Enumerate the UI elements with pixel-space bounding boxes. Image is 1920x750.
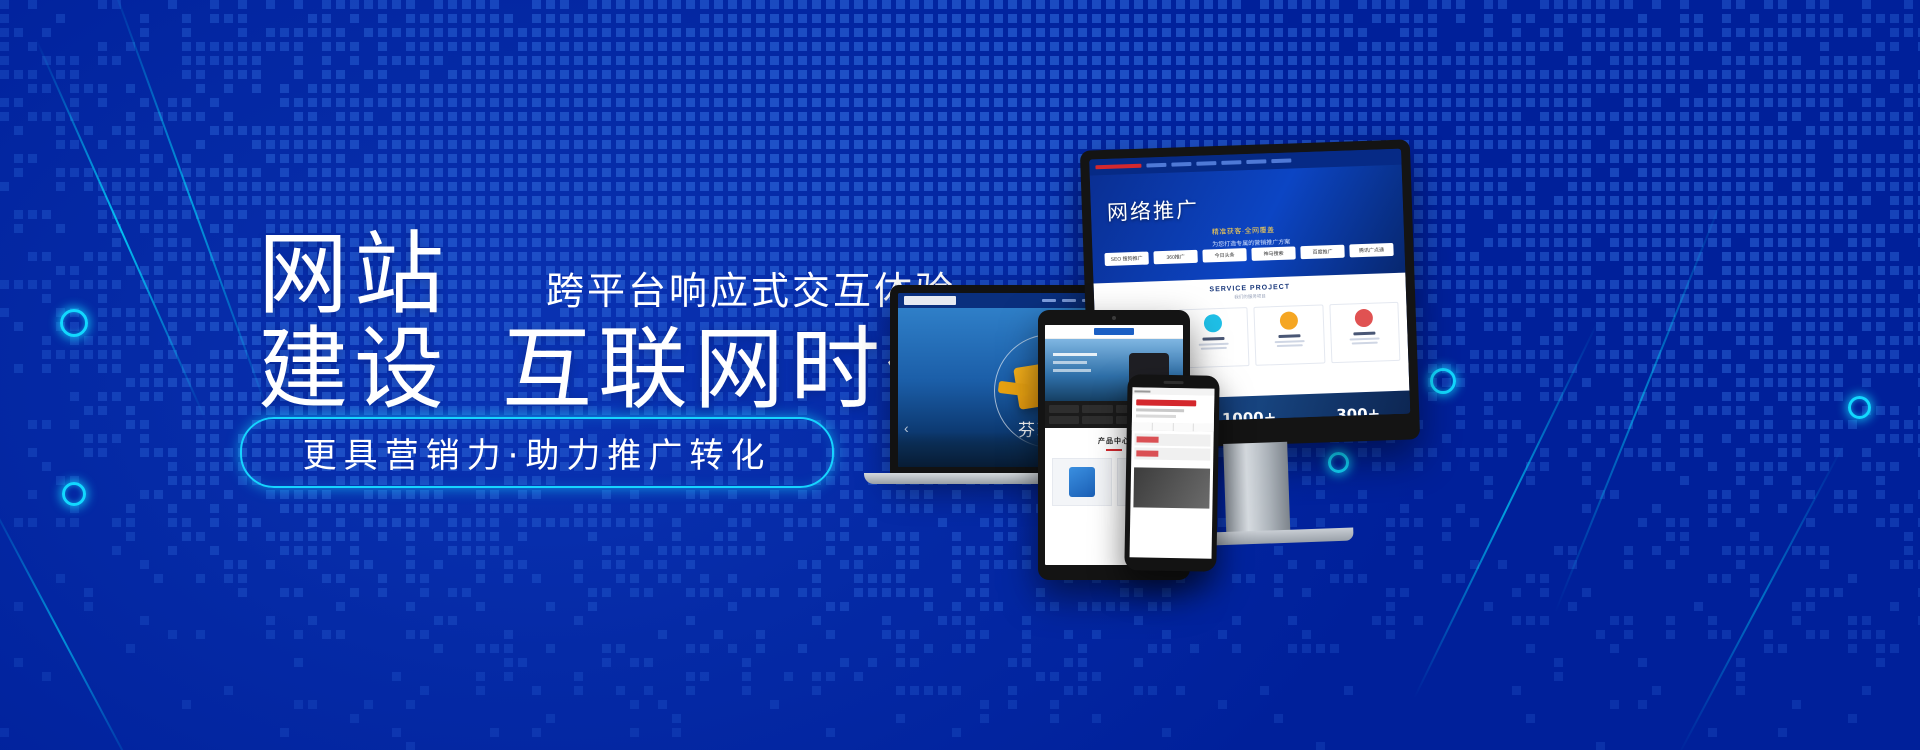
service-card-icon [1204,314,1223,333]
phone-article-image [1133,467,1210,508]
monitor-stand [1223,442,1290,536]
partner-logo: SEO 搜狗推广 [1104,252,1148,267]
service-card-icon [1355,309,1374,328]
phone-speaker-icon [1164,381,1184,384]
list-item[interactable] [1134,433,1210,446]
stat-item: 1000+服务客户数量 [1222,408,1277,424]
partner-logo: 360推广 [1153,250,1197,265]
device-mockup-cluster: 芬瑞机械 ‹ 网络推广 精 [880,110,1920,630]
laptop-site-logo [904,296,956,305]
headline-row-two: 建设 互联网时代 [258,325,982,415]
monitor-hero-subtitle: 精准获客·全网覆盖 [1212,225,1275,237]
tablet-site-logo [1094,328,1134,335]
phone-banner [1132,394,1214,423]
smartphone-mockup [1124,374,1219,572]
partner-logo: 今日头条 [1202,248,1246,263]
phone-list [1131,430,1214,465]
phone-tab-row[interactable] [1132,422,1214,431]
tablet-camera-icon [1112,316,1116,320]
tablet-product-card[interactable] [1052,458,1112,506]
monitor-hero-title: 网络推广 [1106,194,1199,227]
service-card[interactable] [1329,302,1401,363]
list-item[interactable] [1134,447,1210,460]
stat-item: 300+成功案例 [1336,405,1381,425]
stat-value: 1000+ [1222,408,1277,424]
carousel-prev-icon[interactable]: ‹ [904,420,909,436]
monitor-hero: 网络推广 精准获客·全网覆盖 为您打造专属的营销推广方案 SEO 搜狗推广360… [1090,165,1406,284]
slogan-text: 更具营销力·助力推广转化 [303,428,772,477]
website-construction-banner: 网站 跨平台响应式交互体验 建设 互联网时代 更具营销力·助力推广转化 [0,0,1920,750]
headline-primary-line1: 网站 [258,230,450,320]
headline-primary-line2: 建设 [258,325,450,415]
service-card-icon [1279,311,1298,330]
partner-logo: 腾讯广点通 [1349,243,1393,258]
partner-logo: 神马搜索 [1251,246,1295,261]
slogan-pill: 更具营销力·助力推广转化 [240,417,834,488]
headline-row-one: 网站 跨平台响应式交互体验 [258,230,956,320]
service-card[interactable] [1253,304,1325,365]
stat-value: 300+ [1336,405,1380,425]
partner-logo: 百度推广 [1300,245,1344,260]
